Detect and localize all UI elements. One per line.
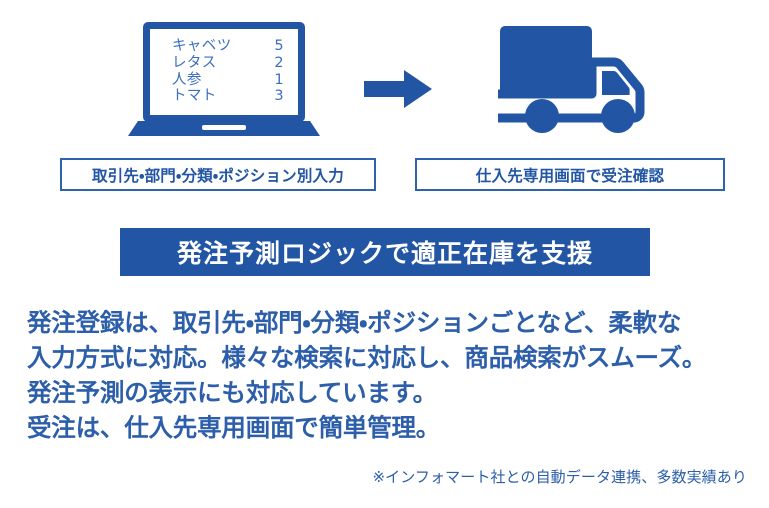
order-item-label: レタス — [172, 55, 217, 72]
body-line: 発注予測の表示にも対応しています。 — [27, 375, 742, 410]
order-item-qty: 3 — [258, 88, 284, 105]
caption-box-confirm: 仕入先専用画面で受注確認 — [415, 158, 725, 191]
body-line: 入力方式に対応。様々な検索に対応し、商品検索がスムーズ。 — [27, 340, 742, 375]
body-line: 受注は、仕入先専用画面で簡単管理。 — [27, 410, 742, 445]
laptop-lid: キャベツ 5 レタス 2 人参 1 トマト 3 — [143, 22, 305, 122]
right-arrow-icon — [364, 70, 432, 108]
order-list-item: レタス 2 — [172, 55, 284, 72]
headline-banner: 発注予測ロジックで適正在庫を支援 — [120, 228, 650, 276]
order-item-label: トマト — [172, 88, 217, 105]
order-item-qty: 1 — [258, 72, 284, 89]
order-item-label: キャベツ — [172, 38, 232, 55]
body-copy: 発注登録は、取引先・部門・分類・ポジションごとなど、柔軟な 入力方式に対応。様々… — [27, 305, 742, 445]
laptop-screen: キャベツ 5 レタス 2 人参 1 トマト 3 — [150, 29, 298, 115]
footnote-text: ※インフォマート社との自動データ連携、多数実績あり — [373, 466, 747, 487]
order-list-item: 人参 1 — [172, 72, 284, 89]
illustration-row: キャベツ 5 レタス 2 人参 1 トマト 3 — [0, 0, 769, 150]
laptop-illustration: キャベツ 5 レタス 2 人参 1 トマト 3 — [128, 22, 320, 146]
order-list-item: キャベツ 5 — [172, 38, 284, 55]
headline-text: 発注予測ロジックで適正在庫を支援 — [177, 234, 593, 270]
delivery-truck-icon — [498, 24, 658, 139]
order-item-label: 人参 — [172, 72, 202, 89]
order-item-qty: 5 — [258, 38, 284, 55]
caption-box-input: 取引先・部門・分類・ポジション別入力 — [60, 158, 376, 191]
order-list-item: トマト 3 — [172, 88, 284, 105]
laptop-trackpad-notch — [202, 125, 246, 130]
body-line: 発注登録は、取引先・部門・分類・ポジションごとなど、柔軟な — [27, 305, 742, 340]
order-item-qty: 2 — [258, 55, 284, 72]
